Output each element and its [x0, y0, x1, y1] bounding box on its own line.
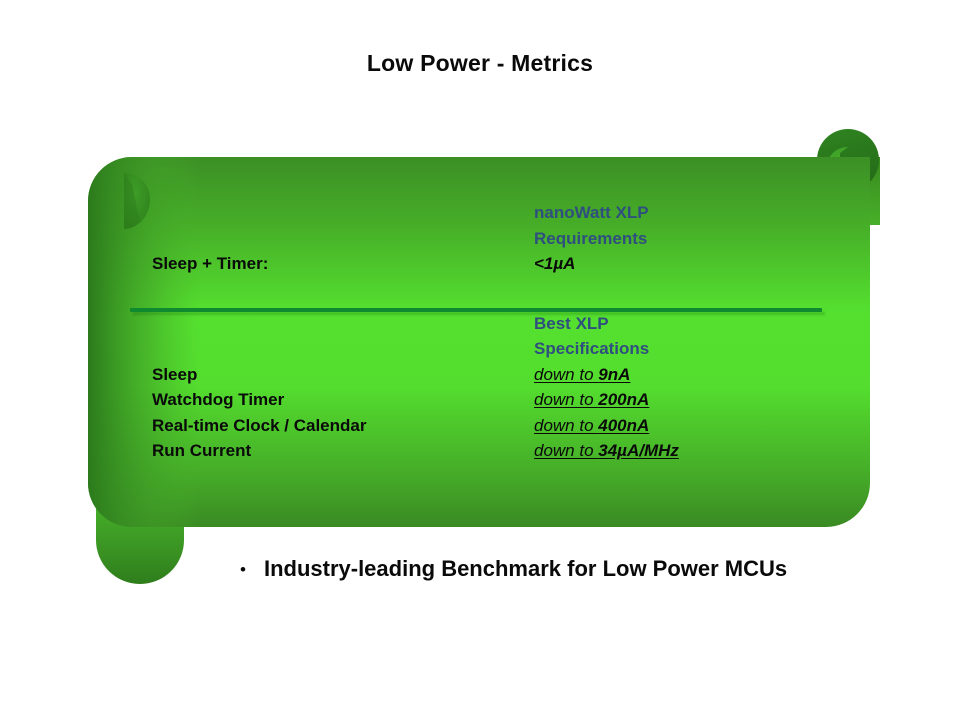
spacer-cell: [152, 336, 534, 362]
value-prefix: down to: [534, 416, 598, 435]
spacer-cell: [534, 277, 752, 294]
value-strong: 9nA: [598, 365, 630, 384]
value-strong: 400nA: [598, 416, 649, 435]
row-label-sleep-timer: Sleep + Timer:: [152, 251, 534, 277]
spec-table: nanoWatt XLP Requirements Sleep + Timer:…: [152, 200, 752, 464]
row-value-run-current: down to 34µA/MHz: [534, 438, 752, 464]
spec-content: nanoWatt XLP Requirements Sleep + Timer:…: [152, 200, 852, 520]
spacer-cell: [534, 294, 752, 311]
spacer-cell: [152, 226, 534, 252]
table-row: Requirements: [152, 226, 752, 252]
spacer-cell: [152, 200, 534, 226]
spacer-cell: [152, 311, 534, 337]
page-title: Low Power - Metrics: [0, 50, 960, 77]
row-value-rtcc: down to 400nA: [534, 413, 752, 439]
row-label-rtcc: Real-time Clock / Calendar: [152, 413, 534, 439]
row-value-watchdog-timer: down to 200nA: [534, 387, 752, 413]
spacer-cell: [152, 277, 534, 294]
row-label-watchdog-timer: Watchdog Timer: [152, 387, 534, 413]
section-header-line2: Requirements: [534, 226, 752, 252]
row-label-run-current: Run Current: [152, 438, 534, 464]
table-row: nanoWatt XLP: [152, 200, 752, 226]
value-prefix: down to: [534, 441, 598, 460]
row-value-sleep: down to 9nA: [534, 362, 752, 388]
table-row: Sleep down to 9nA: [152, 362, 752, 388]
row-value-sleep-timer: <1µA: [534, 251, 752, 277]
table-row: Real-time Clock / Calendar down to 400nA: [152, 413, 752, 439]
section-header-line1: nanoWatt XLP: [534, 200, 752, 226]
table-row: Watchdog Timer down to 200nA: [152, 387, 752, 413]
section-spacer: [152, 277, 752, 294]
row-label-sleep: Sleep: [152, 362, 534, 388]
table-row: Best XLP: [152, 311, 752, 337]
table-row: Sleep + Timer: <1µA: [152, 251, 752, 277]
value-prefix: down to: [534, 365, 598, 384]
table-row: Run Current down to 34µA/MHz: [152, 438, 752, 464]
section2-header-line1: Best XLP: [534, 311, 752, 337]
value-prefix: down to: [534, 390, 598, 409]
value-strong: 200nA: [598, 390, 649, 409]
spacer-cell: [152, 294, 534, 311]
table-row: Specifications: [152, 336, 752, 362]
section2-header-line2: Specifications: [534, 336, 752, 362]
footer-bullet-text: Industry-leading Benchmark for Low Power…: [264, 556, 787, 582]
footer-bullet-row: • Industry-leading Benchmark for Low Pow…: [240, 556, 940, 582]
bullet-point-icon: •: [240, 561, 246, 578]
value-strong: 34µA/MHz: [598, 441, 679, 460]
section-spacer: [152, 294, 752, 311]
